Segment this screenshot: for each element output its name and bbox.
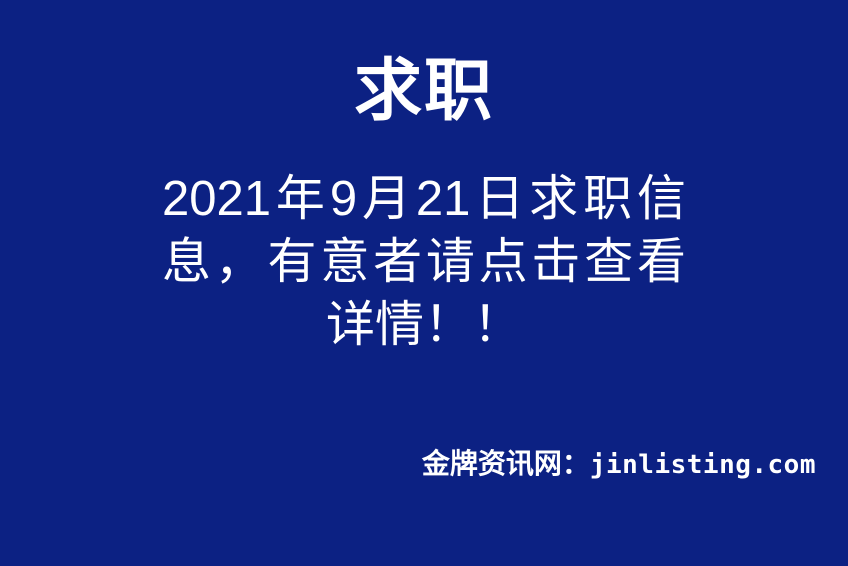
site-name-label: 金牌资讯网：: [422, 448, 590, 479]
message-line-1: 2021年9月21日求职信: [162, 168, 686, 231]
site-credit: 金牌资讯网：jinlisting.com: [0, 448, 848, 481]
page-title: 求职: [0, 52, 848, 130]
poster-canvas: 求职 2021年9月21日求职信 息，有意者请点击查看 详情！！ 金牌资讯网：j…: [0, 0, 848, 566]
message-line-3: 详情！！: [162, 294, 686, 357]
announcement-message: 2021年9月21日求职信 息，有意者请点击查看 详情！！: [162, 168, 686, 357]
message-line-2: 息，有意者请点击查看: [162, 231, 686, 294]
site-url-label: jinlisting.com: [590, 450, 816, 480]
